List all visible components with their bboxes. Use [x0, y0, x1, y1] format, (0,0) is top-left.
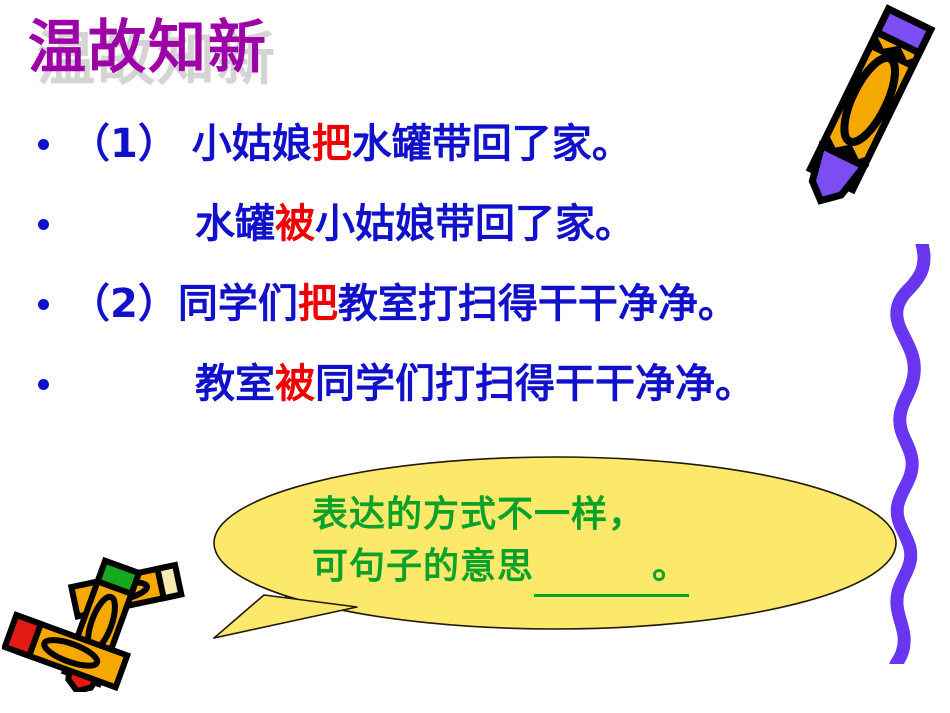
- speech-bubble-line-1: 表达的方式不一样，: [312, 489, 832, 541]
- bullet-seg: 小姑娘带回了家。: [315, 201, 635, 247]
- bullet-seg: 水罐带回了家。: [352, 121, 632, 167]
- bullet-seg: （1） 小姑娘: [70, 121, 312, 167]
- crayon-icon: [786, 2, 950, 214]
- crayons-bottom-left-icon: [2, 552, 187, 692]
- bullet-seg: 同学们打扫得干干净净。: [315, 361, 755, 407]
- bullet-seg-highlight: 把: [298, 281, 338, 327]
- speech-bubble-line-2: 可句子的意思。: [312, 541, 832, 597]
- speech-bubble-line-2-prefix: 可句子的意思: [312, 546, 534, 587]
- page-title-text: 温故知新: [28, 14, 268, 80]
- bullet-seg: 教室: [195, 361, 275, 407]
- bullet-text-3: （2）同学们把教室打扫得干干净净。: [70, 281, 738, 327]
- bullet-text-2: 水罐被小姑娘带回了家。: [195, 201, 635, 247]
- page-title: 温故知新 温故知新: [28, 14, 448, 94]
- bullet-dot-icon: [38, 379, 49, 390]
- crayons-icon: [2, 552, 187, 692]
- bullet-text-4: 教室被同学们打扫得干干净净。: [195, 361, 755, 407]
- bullet-seg-highlight: 把: [312, 121, 352, 167]
- crayon-top-right-icon: [786, 2, 950, 214]
- bullet-dot-icon: [38, 139, 49, 150]
- bullet-dot-icon: [38, 299, 49, 310]
- purple-squiggle-icon: [880, 244, 950, 664]
- bullet-seg: （2）同学们: [70, 281, 298, 327]
- list-item: （2）同学们把教室打扫得干干净净。: [0, 264, 950, 344]
- bullet-seg: 教室打扫得干干净净。: [338, 281, 738, 327]
- bullet-seg: 水罐: [195, 201, 275, 247]
- speech-bubble-line-2-suffix: 。: [652, 546, 689, 587]
- slide-canvas: 温故知新 温故知新 （1） 小姑娘把水罐带回了家。 水罐被小姑娘带回了家。 （2…: [0, 0, 950, 713]
- bullet-text-1: （1） 小姑娘把水罐带回了家。: [70, 121, 632, 167]
- list-item: 教室被同学们打扫得干干净净。: [0, 344, 950, 424]
- bullet-dot-icon: [38, 219, 49, 230]
- bullet-seg-highlight: 被: [275, 201, 315, 247]
- bullet-seg-highlight: 被: [275, 361, 315, 407]
- fill-in-blank[interactable]: 。: [534, 541, 689, 597]
- speech-bubble-text: 表达的方式不一样， 可句子的意思。: [312, 489, 832, 597]
- squiggle-shape: [880, 244, 950, 664]
- speech-bubble: 表达的方式不一样， 可句子的意思。: [212, 455, 898, 640]
